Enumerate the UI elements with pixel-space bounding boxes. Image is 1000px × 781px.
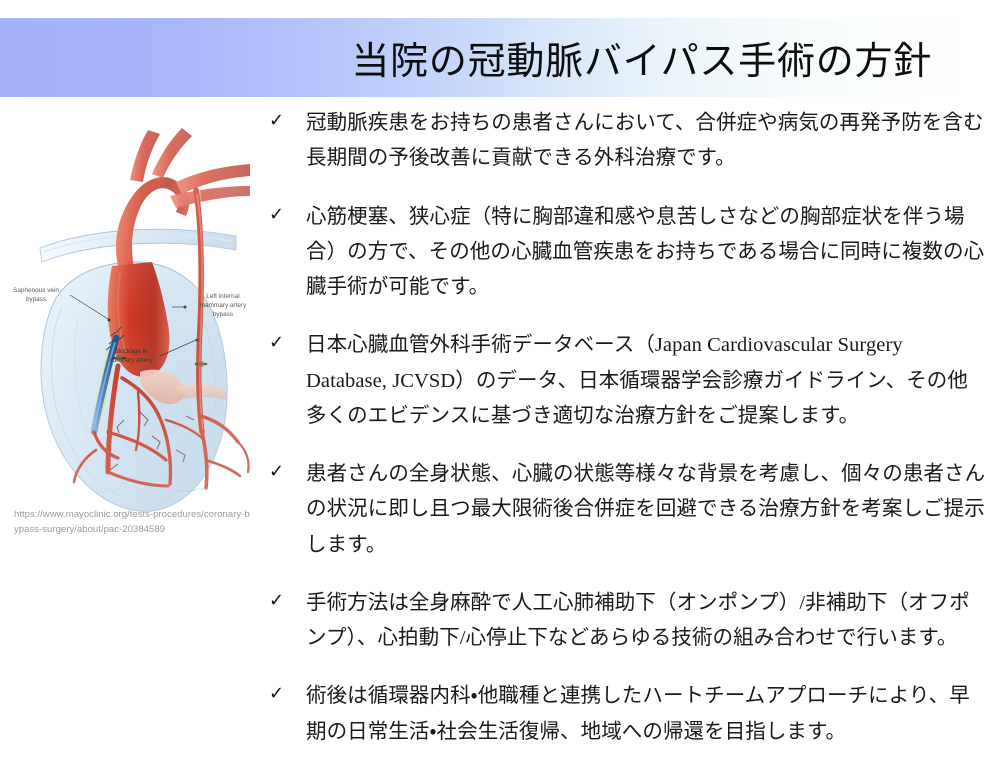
list-item-text: 日本心臓血管外科手術データベース（Japan Cardiovascular Su…: [306, 328, 988, 434]
check-icon: ✓: [266, 200, 306, 231]
list-item-text: 手術方法は全身麻酔で人工心肺補助下（オンポンプ）/非補助下（オフポンプ）、心拍動…: [306, 586, 988, 657]
check-icon: ✓: [266, 106, 306, 137]
page-title: 当院の冠動脈バイパス手術の方針: [0, 18, 1000, 97]
check-icon: ✓: [266, 457, 306, 488]
list-item: ✓ 心筋梗塞、狭心症（特に胸部違和感や息苦しさなどの胸部症状を伴う場合）の方で、…: [266, 200, 988, 306]
list-item-text: 患者さんの全身状態、心臓の状態等様々な背景を考慮し、個々の患者さんの状況に即し且…: [306, 457, 988, 563]
check-icon: ✓: [266, 679, 306, 710]
list-item: ✓ 患者さんの全身状態、心臓の状態等様々な背景を考慮し、個々の患者さんの状況に即…: [266, 457, 988, 563]
list-item-text: 冠動脈疾患をお持ちの患者さんにおいて、合併症や病気の再発予防を含む長期間の予後改…: [306, 106, 988, 177]
figure-source-url: https://www.mayoclinic.org/tests-procedu…: [14, 508, 254, 538]
vignette: [0, 120, 262, 520]
page-title-text: 当院の冠動脈バイパス手術の方針: [351, 30, 932, 85]
figure-column: Saphenous vein bypass Left internal mamm…: [0, 100, 262, 570]
check-icon: ✓: [266, 328, 306, 359]
list-item: ✓ 手術方法は全身麻酔で人工心肺補助下（オンポンプ）/非補助下（オフポンプ）、心…: [266, 586, 988, 657]
list-item: ✓ 日本心臓血管外科手術データベース（Japan Cardiovascular …: [266, 328, 988, 434]
list-item: ✓ 術後は循環器内科・他職種と連携したハートチームアプローチにより、早期の日常生…: [266, 679, 988, 750]
list-item: ✓ 冠動脈疾患をお持ちの患者さんにおいて、合併症や病気の再発予防を含む長期間の予…: [266, 106, 988, 177]
check-icon: ✓: [266, 586, 306, 617]
list-item-text: 心筋梗塞、狭心症（特に胸部違和感や息苦しさなどの胸部症状を伴う場合）の方で、その…: [306, 200, 988, 306]
policy-bullet-list: ✓ 冠動脈疾患をお持ちの患者さんにおいて、合併症や病気の再発予防を含む長期間の予…: [266, 106, 988, 750]
list-item-text: 術後は循環器内科・他職種と連携したハートチームアプローチにより、早期の日常生活・…: [306, 679, 988, 750]
heart-illustration: Saphenous vein bypass Left internal mamm…: [0, 120, 262, 520]
